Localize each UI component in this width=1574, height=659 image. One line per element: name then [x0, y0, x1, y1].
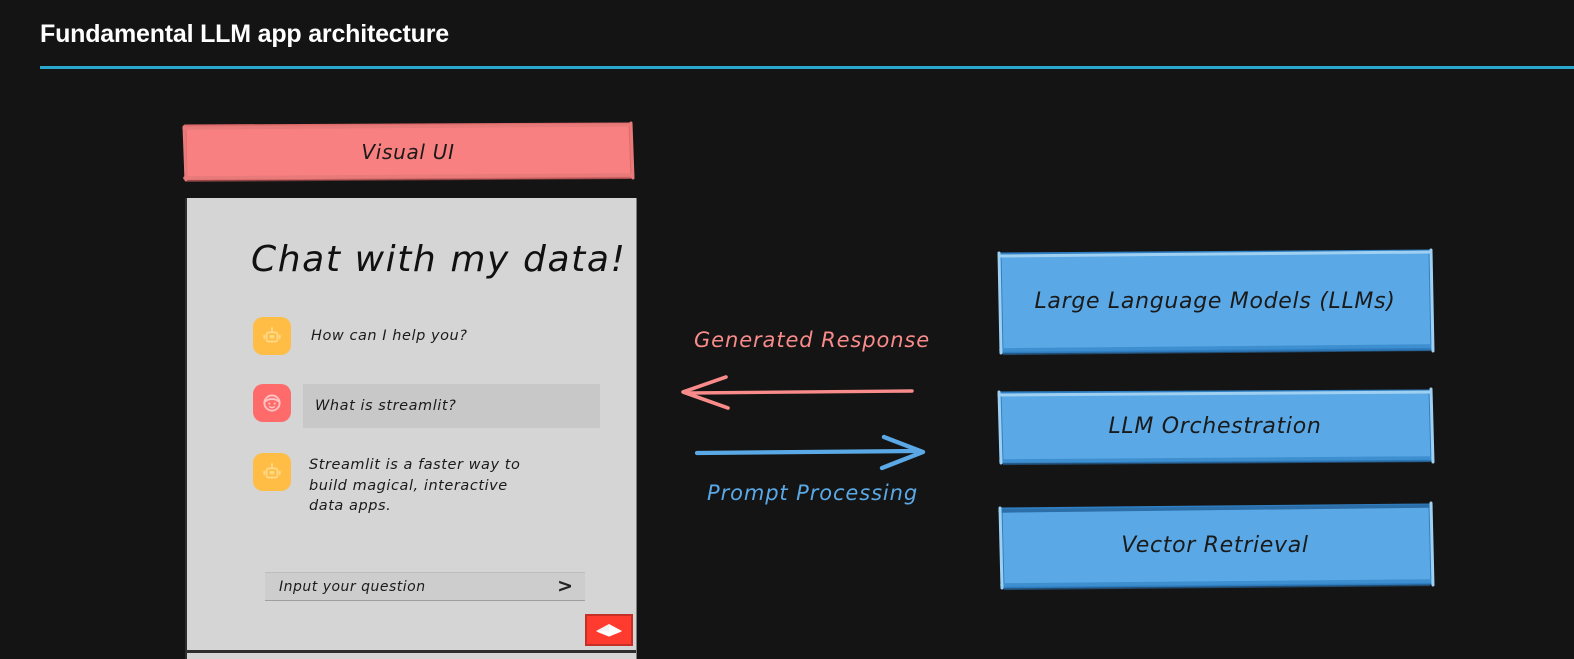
robot-icon	[261, 325, 283, 347]
orchestration-box: LLM Orchestration	[999, 392, 1431, 460]
llm-box-label: Large Language Models (LLMs)	[1034, 289, 1395, 314]
send-icon[interactable]: >	[557, 577, 573, 596]
user-avatar	[253, 384, 291, 422]
generated-response-arrow	[683, 377, 912, 408]
orchestration-box-label: LLM Orchestration	[1108, 414, 1321, 439]
slide-canvas: Fundamental LLM app architecture Visual …	[0, 0, 1574, 659]
chat-app-mockup: Chat with my data! How can I help you?	[185, 198, 637, 659]
generated-response-label: Generated Response	[694, 328, 930, 352]
header-divider	[40, 66, 1574, 69]
chat-message-text: Streamlit is a faster way to build magic…	[309, 453, 544, 517]
llm-box: Large Language Models (LLMs)	[999, 252, 1431, 350]
chat-message-bot-1: How can I help you?	[253, 317, 468, 355]
chat-heading: Chat with my data!	[251, 239, 627, 280]
chat-input[interactable]: Input your question >	[265, 572, 585, 601]
prompt-processing-label: Prompt Processing	[707, 481, 918, 505]
chat-message-text: How can I help you?	[311, 317, 468, 347]
chat-message-user-1: What is streamlit?	[253, 384, 600, 428]
robot-icon	[261, 461, 283, 483]
visual-ui-label: Visual UI	[361, 140, 454, 164]
chat-message-bubble: What is streamlit?	[303, 384, 600, 428]
page-title: Fundamental LLM app architecture	[40, 20, 449, 49]
vector-retrieval-box: Vector Retrieval	[999, 506, 1431, 584]
visual-ui-box: Visual UI	[183, 125, 633, 178]
chat-message-bot-2: Streamlit is a faster way to build magic…	[253, 453, 544, 517]
chat-input-placeholder: Input your question	[279, 579, 426, 595]
chat-message-text: What is streamlit?	[315, 396, 456, 417]
bot-avatar	[253, 317, 291, 355]
streamlit-badge	[585, 614, 633, 646]
bot-avatar	[253, 453, 291, 491]
face-icon	[260, 391, 284, 415]
vector-retrieval-box-label: Vector Retrieval	[1121, 533, 1308, 558]
streamlit-logo-icon	[595, 621, 623, 639]
prompt-processing-arrow	[697, 437, 923, 468]
